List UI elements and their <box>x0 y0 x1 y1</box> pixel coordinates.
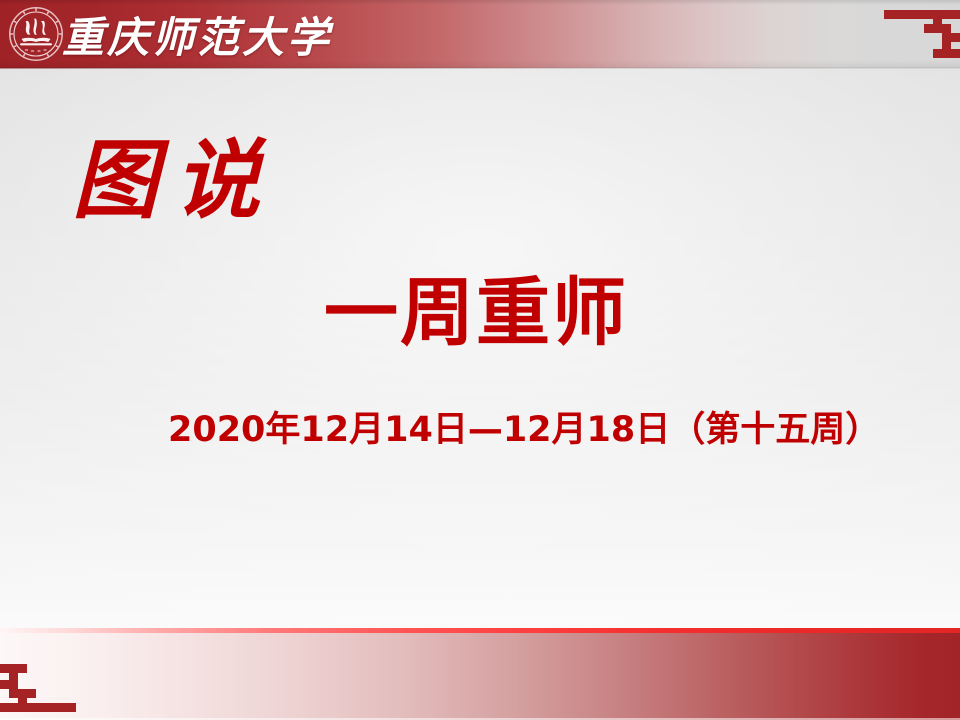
footer-highlight-line <box>0 628 960 633</box>
presentation-slide: 重庆师范大学 图说 一周重师 2020年12月14日—1 <box>0 0 960 720</box>
slide-title-brush: 图说 <box>72 138 276 224</box>
fret-pattern-ornament-top-right <box>884 10 960 58</box>
slide-footer-band <box>0 628 960 720</box>
university-name: 重庆师范大学 <box>62 0 332 68</box>
slide-background <box>0 0 960 720</box>
slide-title-main: 一周重师 <box>324 276 628 350</box>
university-emblem-icon <box>8 6 64 62</box>
slide-date-range: 2020年12月14日—12月18日（第十五周） <box>168 413 880 448</box>
fret-pattern-ornament-bottom-left <box>0 664 76 712</box>
